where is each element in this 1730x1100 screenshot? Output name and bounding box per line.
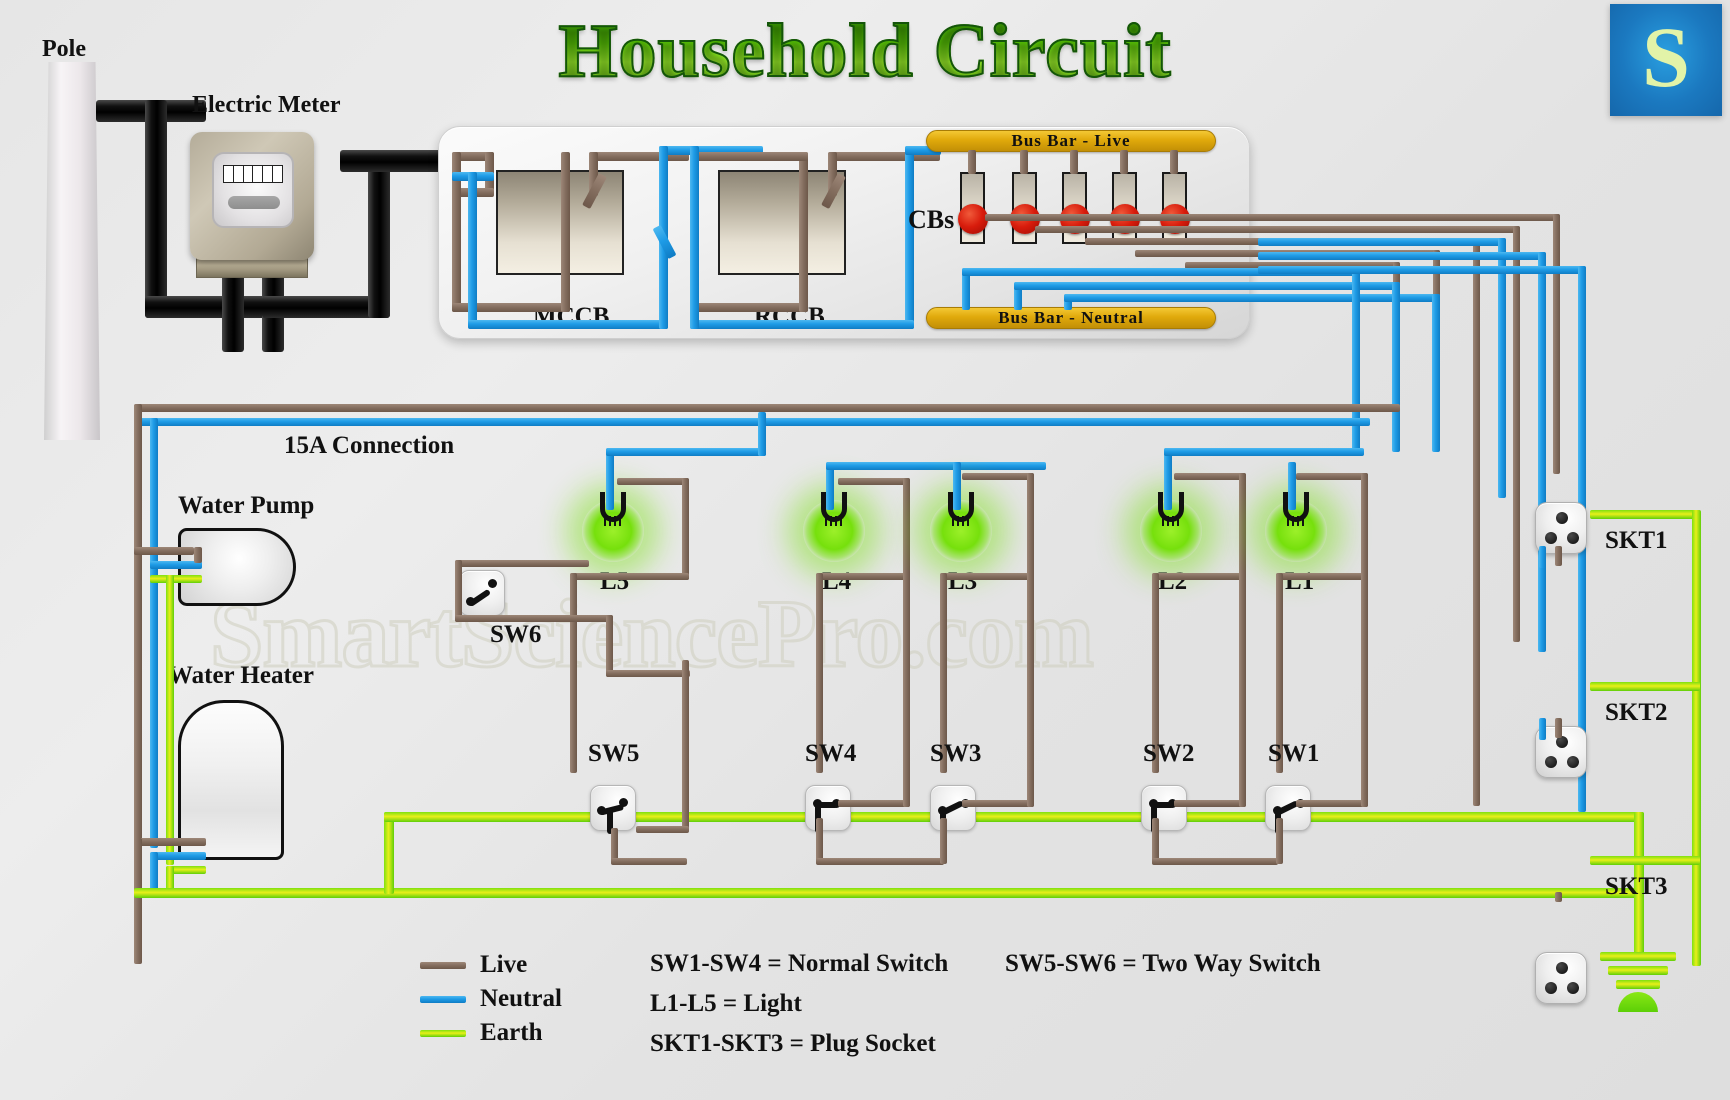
live-trunk-2	[1035, 226, 1520, 233]
cb-stub-1	[968, 150, 976, 174]
switch-SW1[interactable]	[1265, 785, 1311, 831]
heater-live-wire	[134, 838, 206, 846]
wire-neutral-v1	[468, 172, 477, 328]
legend-swatch-live	[420, 962, 466, 969]
wire-live-v3	[561, 152, 570, 312]
L5-neutral-tap	[758, 412, 766, 456]
light-L1	[1265, 500, 1327, 562]
SW3-live-down	[940, 818, 947, 864]
L2-neutral-drop	[1164, 448, 1172, 510]
L1-neutral-drop	[1288, 462, 1296, 510]
L3-live-side	[1027, 473, 1034, 580]
neutral-bar-3	[1064, 294, 1440, 302]
L2-live-bottom	[1152, 573, 1246, 580]
SW3-live-up	[1027, 570, 1034, 807]
L5-live-to-sw5	[570, 573, 577, 773]
L5-live-side	[682, 478, 689, 580]
meter-display-panel	[212, 152, 294, 228]
legend-note-light: L1-L5 = Light	[650, 990, 802, 1018]
neutral-branch-b-drop	[1538, 252, 1546, 652]
SW2-live-bottom	[1152, 858, 1278, 865]
legend-label-neutral: Neutral	[480, 985, 562, 1013]
switch-label-SW1: SW1	[1268, 740, 1319, 768]
live-drop-skt3	[1473, 238, 1480, 806]
L1-live-bottom	[1276, 573, 1368, 580]
L4-live-side	[903, 478, 910, 580]
neutral-branch-a	[1258, 238, 1506, 246]
legend-label-live: Live	[480, 951, 527, 979]
L2-neutral-run	[1164, 448, 1364, 456]
rccb-body	[718, 170, 846, 275]
switch-SW2[interactable]	[1141, 785, 1187, 831]
switch-label-SW5: SW5	[588, 740, 639, 768]
legend-note-two-way-switch: SW5-SW6 = Two Way Switch	[1005, 950, 1321, 978]
switch-label-SW3: SW3	[930, 740, 981, 768]
pump-live-wire	[134, 547, 194, 555]
house-live-bus	[134, 404, 1400, 412]
L1-live-side	[1361, 473, 1368, 580]
socket-SKT3[interactable]	[1535, 952, 1587, 1004]
switch-SW5[interactable]	[590, 785, 636, 831]
SW6-live-bottom	[455, 615, 613, 622]
L1-live-top	[1296, 473, 1368, 480]
wire-neutral-v5	[690, 146, 699, 329]
meter-dial	[228, 196, 280, 209]
switch-SW3[interactable]	[930, 785, 976, 831]
L3-live-bottom	[940, 573, 1034, 580]
water-heater-label: Water Heater	[168, 662, 314, 690]
switch-SW4[interactable]	[805, 785, 851, 831]
L2-live-side	[1239, 473, 1246, 580]
neutral-branch-b	[1258, 252, 1546, 260]
legend-swatch-neutral	[420, 996, 466, 1003]
earth-main-bus	[134, 888, 1644, 898]
ground-bar-1	[1600, 952, 1676, 961]
SKT1-earth-run	[1590, 510, 1700, 519]
neutral-drop-2	[1392, 282, 1400, 452]
live-drop-skt	[1553, 214, 1560, 474]
legend-row-earth: Earth	[420, 1016, 562, 1050]
bulb-icon	[821, 492, 847, 530]
L5-live-bottom	[570, 573, 689, 580]
SW1-live-up	[1361, 570, 1368, 807]
light-L4	[803, 500, 865, 562]
earth-upper-bus	[384, 812, 1644, 822]
cbs-label: CBs	[908, 205, 954, 235]
house-neutral-bus	[134, 418, 1370, 426]
bulb-icon	[948, 492, 974, 530]
SKT3-live-stub	[1555, 892, 1562, 902]
socket-label-SKT1: SKT1	[1605, 527, 1668, 555]
L4-live-top	[838, 478, 910, 485]
neutral-branch-c	[1258, 266, 1586, 274]
busbar-neutral: Bus Bar - Neutral	[926, 307, 1216, 329]
conduit-up-to-db	[368, 160, 390, 318]
ground-bar-3	[1616, 980, 1660, 989]
SW2-live-out	[1174, 800, 1246, 807]
cb-stub-4	[1120, 150, 1128, 174]
heater-neutral-wire	[150, 852, 206, 860]
SKT2-neutral-stub	[1539, 718, 1546, 740]
busbar-live: Bus Bar - Live	[926, 130, 1216, 152]
SW6-live-to-sw5	[606, 615, 613, 677]
SW5-live-out	[636, 826, 689, 833]
SKT2-earth-run	[1590, 682, 1700, 691]
L3-neutral-drop	[953, 462, 961, 510]
light-L3	[930, 500, 992, 562]
page-title: Household Circuit	[0, 8, 1730, 95]
L5-live-top	[617, 478, 689, 485]
conduit-down-1	[145, 100, 167, 318]
switch-label-SW6: SW6	[490, 621, 541, 649]
SKT1-neutral-stub	[1539, 546, 1546, 568]
SW4-live-up	[903, 570, 910, 807]
heater-earth-riser	[166, 575, 174, 865]
L3-live-top	[962, 473, 1034, 480]
utility-pole	[44, 62, 100, 440]
L5-neutral-drop	[606, 448, 614, 510]
cb-indicator-1	[958, 204, 988, 234]
SW6-link	[606, 670, 690, 677]
SKT2-live-stub	[1555, 718, 1562, 738]
SKT1-live-stub	[1555, 546, 1562, 566]
wire-neutral-v3	[659, 146, 668, 220]
meter-digit-register	[223, 165, 283, 183]
wire-live-v6	[799, 152, 808, 312]
SW4-live-bottom	[816, 858, 944, 865]
legend-note-plug-socket: SKT1-SKT3 = Plug Socket	[650, 1030, 936, 1058]
SW6-live-top	[455, 560, 589, 567]
wire-live-h4	[690, 303, 808, 312]
logo-letter: S	[1642, 14, 1690, 100]
SW5-live-right	[682, 660, 689, 830]
L4-live-bottom	[816, 573, 910, 580]
electric-meter-label: Electric Meter	[192, 92, 341, 119]
pump-live-drop	[194, 547, 202, 563]
socket-label-SKT3: SKT3	[1605, 873, 1668, 901]
wire-neutral-h4	[690, 320, 914, 329]
brand-logo: S	[1610, 4, 1722, 116]
legend: Live Neutral Earth	[420, 948, 562, 1050]
wire-neutral-v4	[905, 146, 914, 329]
water-heater	[178, 700, 284, 860]
earth-riser-mid	[384, 812, 394, 894]
cb-stub-5	[1170, 150, 1178, 174]
L4-neutral-run	[826, 462, 1046, 470]
SW6-live-left	[455, 560, 462, 622]
SKT3-earth-run	[1590, 856, 1700, 865]
neutral-branch-a-drop	[1498, 238, 1506, 498]
household-circuit-diagram: Household Circuit S SmartSciencePro.com …	[0, 0, 1730, 1100]
house-neutral-riser	[150, 418, 158, 848]
neutral-bar-2	[1014, 282, 1400, 290]
socket-label-SKT2: SKT2	[1605, 699, 1668, 727]
L2-live-top	[1174, 473, 1246, 480]
ground-bar-2	[1608, 966, 1668, 975]
mccb-body	[496, 170, 624, 275]
switch-SW6[interactable]	[459, 570, 505, 616]
live-trunk-1	[985, 214, 1560, 221]
legend-label-earth: Earth	[480, 1019, 543, 1047]
cb-stub-3	[1070, 150, 1078, 174]
SW1-live-out	[1296, 800, 1368, 807]
SW3-live-out	[962, 800, 1034, 807]
switch-label-SW4: SW4	[805, 740, 856, 768]
neutral-drop-3	[1432, 294, 1440, 452]
cb-stub-2	[1020, 150, 1028, 174]
SW4-live-out	[838, 800, 910, 807]
water-pump-label: Water Pump	[178, 492, 314, 520]
pole-label: Pole	[42, 36, 86, 63]
L5-neutral-run	[606, 448, 766, 456]
live-drop-skt2	[1513, 226, 1520, 642]
wire-neutral-h1	[468, 320, 668, 329]
pump-earth-wire	[150, 575, 202, 583]
bulb-icon	[1283, 492, 1309, 530]
switch-label-SW2: SW2	[1143, 740, 1194, 768]
legend-row-live: Live	[420, 948, 562, 982]
legend-swatch-earth	[420, 1030, 466, 1037]
legend-note-normal-switch: SW1-SW4 = Normal Switch	[650, 950, 948, 978]
wire-live-h5	[690, 152, 808, 161]
SW5-live-bottom	[611, 858, 687, 865]
connection-rating-label: 15A Connection	[284, 432, 454, 460]
SW1-live-down	[1276, 818, 1283, 864]
SW2-live-up	[1239, 570, 1246, 807]
ground-symbol-cap	[1618, 992, 1658, 1012]
SKT1-earth-drop	[1692, 510, 1701, 966]
legend-row-neutral: Neutral	[420, 982, 562, 1016]
